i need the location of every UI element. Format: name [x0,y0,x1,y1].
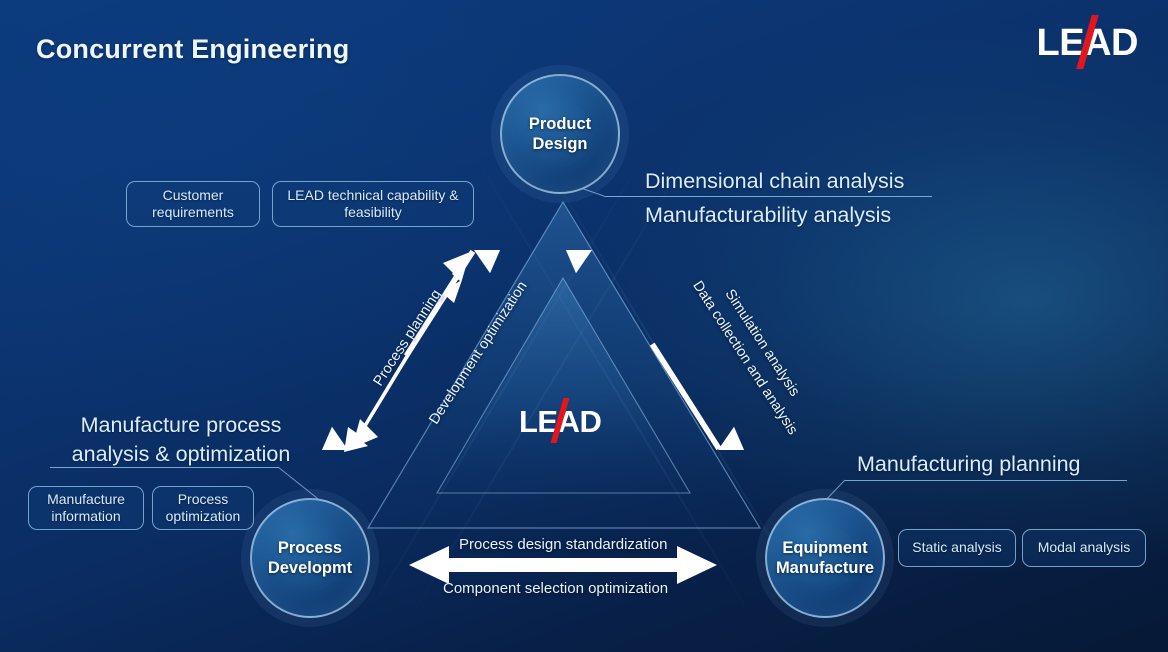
slide-canvas: Concurrent Engineering LEAD [0,0,1168,652]
rule-bottom-right [845,480,1127,481]
rule-bottom-left [50,467,278,468]
tag-lead-technical-capability[interactable]: LEAD technical capability & feasibility [272,181,474,227]
node-equipment-line2: Manufacture [776,558,874,578]
page-title: Concurrent Engineering [36,34,349,65]
rule-top-right [604,196,932,197]
background-streak-4 [362,160,642,624]
lead-logo-center: LEAD [519,404,601,440]
node-process-line2: Developmt [268,558,352,578]
node-product-design[interactable]: Product Design [500,74,620,194]
label-process-planning: Process planning [371,287,445,389]
headline-manufacturing-planning: Manufacturing planning [857,450,1081,479]
headline-dimensional-chain-analysis: Dimensional chain analysis [645,167,904,196]
node-equipment-line1: Equipment [776,538,874,558]
headline-manufacture-process-analysis: Manufacture process analysis & optimizat… [50,411,312,469]
node-process-development[interactable]: Process Developmt [250,498,370,618]
tag-static-analysis[interactable]: Static analysis [898,529,1016,567]
label-component-selection-optimization: Component selection optimization [443,580,668,597]
node-process-line1: Process [268,538,352,558]
tag-customer-requirements[interactable]: Customer requirements [126,181,260,227]
triangle-outer-icon [368,202,760,528]
headline-manufacturability-analysis: Manufacturability analysis [645,201,891,230]
node-product-line1: Product [529,114,591,134]
label-process-design-standardization: Process design standardization [459,536,667,553]
label-development-optimization: Development optimization [426,279,530,428]
triangle-inner-icon [437,278,690,493]
leader-line-process [278,467,322,502]
node-product-line2: Design [529,134,591,154]
node-equipment-manufacture[interactable]: Equipment Manufacture [765,498,885,618]
tag-modal-analysis[interactable]: Modal analysis [1022,529,1146,567]
lead-logo-top: LEAD [1037,22,1138,65]
tag-process-optimization[interactable]: Process optimization [152,486,254,530]
tag-manufacture-information[interactable]: Manufacture information [28,486,144,530]
